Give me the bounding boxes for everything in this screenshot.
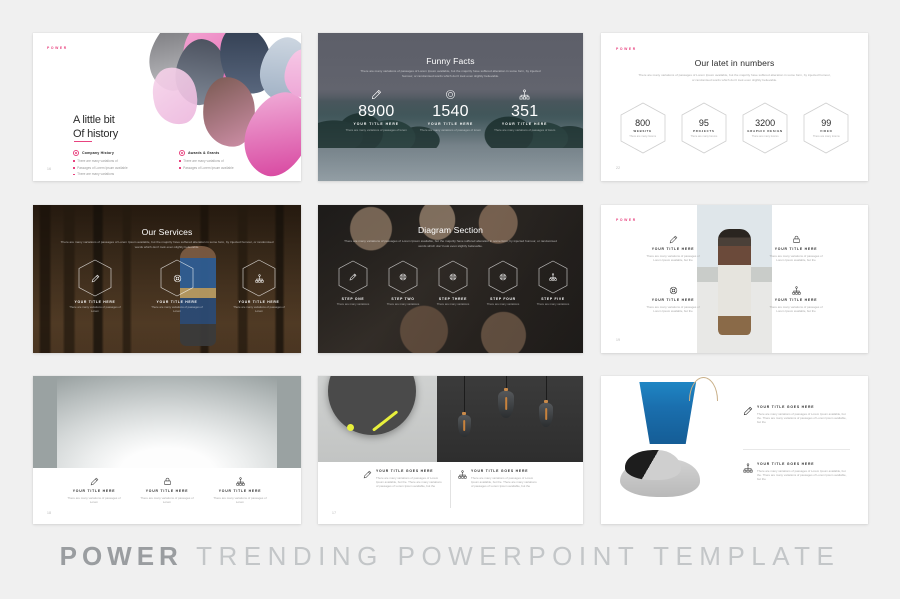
camera-lens-icon — [445, 89, 456, 100]
pencil-icon — [91, 274, 100, 283]
lifebuoy-icon — [173, 274, 182, 283]
slide-thumbnail-our-services[interactable]: Our Services There are many variations o… — [33, 205, 301, 353]
slide-title: A little bit Of history — [73, 114, 118, 141]
feature-block: YOUR TITLE HERE There are many variation… — [209, 477, 271, 504]
pendant-lamp — [458, 376, 471, 437]
diagram-step: STEP FIVE There are many variations — [530, 260, 576, 307]
stat-block: 351 YOUR TITLE HERE There are many varia… — [488, 89, 561, 132]
slide-subtitle: There are many variations of passages of… — [360, 69, 540, 79]
hexagon-number: 800 — [635, 118, 650, 128]
hexagon-label: GRAPHIC DESIGN — [747, 129, 783, 133]
hexagon-label: VIDEO — [820, 129, 833, 133]
feature-block: YOUR TITLE GOES HERE There are many vari… — [743, 405, 851, 424]
service-title: YOUR TITLE HERE — [231, 300, 287, 304]
hexagon-number: 3200 — [755, 118, 775, 128]
feature-text: There are many variations of passages of… — [768, 254, 824, 262]
slide-title-line2: Of history — [73, 128, 118, 142]
slide-subtitle: There are many variations of passages of… — [638, 73, 830, 83]
pencil-icon — [743, 406, 753, 416]
stat-hexagon: 95 PROJECTS There are many lorems — [681, 102, 727, 154]
list-item: There are many variations of — [183, 159, 224, 163]
slide-thumbnail-ceiling-features[interactable]: YOUR TITLE HERE There are many variation… — [33, 376, 301, 524]
list-bullet-icon — [73, 174, 75, 176]
stat-text: There are many variations of passages of… — [340, 128, 413, 132]
feature-divider — [743, 449, 850, 450]
lifebuoy-icon — [669, 286, 678, 295]
stat-number: 8900 — [340, 103, 413, 121]
step-title: STEP ONE — [330, 297, 376, 301]
service-text: There are many variations of passages of… — [67, 306, 123, 314]
pendant-lamp — [498, 376, 514, 418]
slide-title: Our latet in numbers — [601, 58, 868, 68]
diagram-step: STEP TWO There are many variations — [380, 260, 426, 307]
feature-title: YOUR TITLE HERE — [645, 298, 701, 302]
footer-tagline: TRENDING POWERPOINT TEMPLATE — [196, 541, 840, 571]
hexagon-number: 95 — [699, 118, 709, 128]
stat-hexagon: 800 WEBSITE There are many lorems — [620, 102, 666, 154]
stat-caption: YOUR TITLE HERE — [414, 122, 487, 126]
bullet-ring-icon — [179, 150, 185, 156]
hexagon-text: There are many lorems — [808, 135, 844, 138]
slide-subtitle: There are many variations of passages of… — [60, 240, 274, 250]
page-number: 22 — [616, 166, 620, 170]
diagram-step: STEP THREE There are many variations — [430, 260, 476, 307]
lock-icon — [163, 477, 172, 486]
slide-title: Funny Facts — [318, 56, 583, 66]
hexagon-text: There are many lorems — [686, 135, 722, 138]
pendant-lamp — [539, 376, 553, 427]
feature-block: YOUR TITLE HERE There are many variation… — [768, 235, 824, 262]
service-title: YOUR TITLE HERE — [67, 300, 123, 304]
slide-thumbnail-funny-facts[interactable]: Funny Facts There are many variations of… — [318, 33, 583, 181]
feature-block: YOUR TITLE GOES HERE There are many vari… — [458, 469, 538, 488]
slide-title-line1: A little bit — [73, 114, 118, 128]
brand-logo: POWER — [47, 46, 68, 50]
feature-block: YOUR TITLE GOES HERE There are many vari… — [743, 462, 851, 481]
feature-text: There are many variations of passages of… — [136, 496, 198, 504]
column-heading: Company History — [82, 151, 114, 155]
brand-logo: POWER — [616, 47, 637, 51]
background-photo-clock — [318, 376, 437, 462]
feature-text: There are many variations of passages of… — [757, 412, 851, 424]
stat-block: 8900 YOUR TITLE HERE There are many vari… — [340, 89, 413, 132]
slide-thumbnail-basket-slippers[interactable]: YOUR TITLE GOES HERE There are many vari… — [601, 376, 868, 524]
stat-text: There are many variations of passages of… — [414, 128, 487, 132]
text-column — [735, 376, 869, 524]
sitemap-icon — [519, 89, 530, 100]
feature-text: There are many variations of passages of… — [757, 469, 851, 481]
feature-text: There are many variations of passages of… — [645, 254, 701, 262]
hexagon-label: WEBSITE — [634, 129, 652, 133]
step-text: There are many variations — [330, 303, 376, 307]
lifebuoy-icon — [499, 273, 507, 281]
feature-block: YOUR TITLE HERE There are many variation… — [63, 477, 125, 504]
sitemap-icon — [255, 274, 264, 283]
step-text: There are many variations — [380, 303, 426, 307]
lifebuoy-icon — [399, 273, 407, 281]
stat-number: 351 — [488, 103, 561, 121]
pencil-icon — [90, 477, 99, 486]
page-number: 19 — [616, 338, 620, 342]
feature-title: YOUR TITLE HERE — [63, 489, 125, 493]
feature-block: YOUR TITLE HERE There are many variation… — [768, 286, 824, 313]
step-text: There are many variations — [480, 303, 526, 307]
feature-title: YOUR TITLE GOES HERE — [471, 469, 538, 473]
step-text: There are many variations — [530, 303, 576, 307]
list-bullet-icon — [73, 160, 75, 162]
slide-thumbnail-diagram-section[interactable]: Diagram Section There are many variation… — [318, 205, 583, 353]
hexagon-text: There are many lorems — [747, 135, 783, 138]
stat-caption: YOUR TITLE HERE — [340, 122, 413, 126]
feature-title: YOUR TITLE GOES HERE — [376, 469, 443, 473]
feature-text: There are many variations of passages of… — [209, 496, 271, 504]
list-bullet-icon — [73, 167, 75, 169]
slipper-photo-front — [625, 450, 681, 480]
footer-brand: POWER — [60, 541, 183, 571]
background-photo-ceiling — [33, 376, 301, 468]
pencil-icon — [363, 470, 372, 479]
model-figure — [718, 229, 751, 336]
bullet-ring-icon — [73, 150, 79, 156]
list-bullet-icon — [179, 160, 181, 162]
list-item: Passages of Lorem Ipsum available — [183, 166, 234, 170]
sitemap-icon — [458, 470, 467, 479]
pencil-icon — [669, 235, 678, 244]
step-title: STEP FIVE — [530, 297, 576, 301]
slide-subtitle: There are many variations of passages of… — [342, 239, 559, 249]
feature-title: YOUR TITLE GOES HERE — [757, 405, 851, 409]
hexagon-text: There are many lorems — [625, 135, 661, 138]
list-item: There are many variations — [77, 172, 114, 176]
diagram-step: STEP ONE There are many variations — [330, 260, 376, 307]
page-number: 17 — [332, 511, 336, 515]
diagram-step: STEP FOUR There are many variations — [480, 260, 526, 307]
service-text: There are many variations of passages of… — [231, 306, 287, 314]
service-item: YOUR TITLE HERE There are many variation… — [231, 259, 287, 314]
sitemap-icon — [236, 477, 245, 486]
feature-block: YOUR TITLE GOES HERE There are many vari… — [363, 469, 443, 488]
service-title: YOUR TITLE HERE — [149, 300, 205, 304]
stat-hexagon: 3200 GRAPHIC DESIGN There are many lorem… — [742, 102, 788, 154]
feature-text: There are many variations of passages of… — [376, 476, 443, 488]
feature-title: YOUR TITLE HERE — [136, 489, 198, 493]
step-title: STEP FOUR — [480, 297, 526, 301]
clock-marker-dot — [347, 424, 354, 431]
stat-number: 1540 — [414, 103, 487, 121]
stat-block: 1540 YOUR TITLE HERE There are many vari… — [414, 89, 487, 132]
lock-icon — [792, 235, 801, 244]
ceiling-rays — [33, 376, 301, 468]
feature-title: YOUR TITLE HERE — [645, 247, 701, 251]
stat-caption: YOUR TITLE HERE — [488, 122, 561, 126]
brand-logo: POWER — [616, 218, 637, 222]
sitemap-icon — [743, 463, 753, 473]
background-photo-fashion — [697, 205, 772, 353]
hexagon-label: PROJECTS — [693, 129, 714, 133]
feature-title: YOUR TITLE HERE — [768, 298, 824, 302]
column-divider — [450, 470, 451, 508]
sitemap-icon — [792, 286, 801, 295]
step-text: There are many variations — [430, 303, 476, 307]
lifebuoy-icon — [449, 273, 457, 281]
feature-block: YOUR TITLE HERE There are many variation… — [645, 286, 701, 313]
feature-title: YOUR TITLE GOES HERE — [757, 462, 851, 466]
feature-text: There are many variations of passages of… — [645, 305, 701, 313]
product-photo-column — [601, 376, 735, 524]
service-item: YOUR TITLE HERE There are many variation… — [149, 259, 205, 314]
page-number: 16 — [47, 167, 51, 171]
photo-edge-right — [277, 376, 301, 468]
feature-text: There are many variations of passages of… — [768, 305, 824, 313]
feature-text: There are many variations of passages of… — [471, 476, 538, 488]
feature-block: YOUR TITLE HERE There are many variation… — [645, 235, 701, 262]
feature-title: YOUR TITLE HERE — [209, 489, 271, 493]
history-column-company: Company History There are many variation… — [73, 150, 157, 179]
slide-title: Diagram Section — [318, 225, 583, 235]
list-item: There are many variations of — [77, 159, 118, 163]
clock-face — [328, 376, 416, 435]
service-text: There are many variations of passages of… — [149, 306, 205, 314]
slide-thumbnail-history[interactable]: POWER A little bit Of history Company Hi… — [33, 33, 301, 181]
step-title: STEP THREE — [430, 297, 476, 301]
photo-edge-left — [33, 376, 57, 468]
title-underline-rule — [74, 141, 92, 142]
history-column-awards: Awards & Grants There are many variation… — [179, 150, 263, 179]
background-photo-lamps — [437, 376, 583, 462]
list-bullet-icon — [179, 167, 181, 169]
basket-handle — [689, 377, 718, 401]
footer-spacer — [183, 541, 196, 571]
hexagon-number: 99 — [821, 118, 831, 128]
pencil-icon — [371, 89, 382, 100]
page-number: 18 — [47, 511, 51, 515]
pencil-icon — [349, 273, 357, 281]
footer-title: POWER TRENDING POWERPOINT TEMPLATE — [0, 541, 900, 572]
slide-thumbnail-features-photo[interactable]: POWER YOUR TITLE HERE There are many var… — [601, 205, 868, 353]
service-item: YOUR TITLE HERE There are many variation… — [67, 259, 123, 314]
feature-title: YOUR TITLE HERE — [768, 247, 824, 251]
template-preview-canvas: POWER A little bit Of history Company Hi… — [0, 0, 900, 599]
slide-thumbnail-clock-lamps[interactable]: YOUR TITLE GOES HERE There are many vari… — [318, 376, 583, 524]
stat-hexagon: 99 VIDEO There are many lorems — [803, 102, 849, 154]
feature-block: YOUR TITLE HERE There are many variation… — [136, 477, 198, 504]
column-heading: Awards & Grants — [188, 151, 219, 155]
slide-thumbnail-numbers[interactable]: POWER Our latet in numbers There are man… — [601, 33, 868, 181]
stat-text: There are many variations of passages of… — [488, 128, 561, 132]
step-title: STEP TWO — [380, 297, 426, 301]
feature-text: There are many variations of passages of… — [63, 496, 125, 504]
list-item: Passages of Lorem Ipsum available — [77, 166, 128, 170]
sitemap-icon — [549, 273, 557, 281]
slide-title: Our Services — [33, 227, 301, 237]
